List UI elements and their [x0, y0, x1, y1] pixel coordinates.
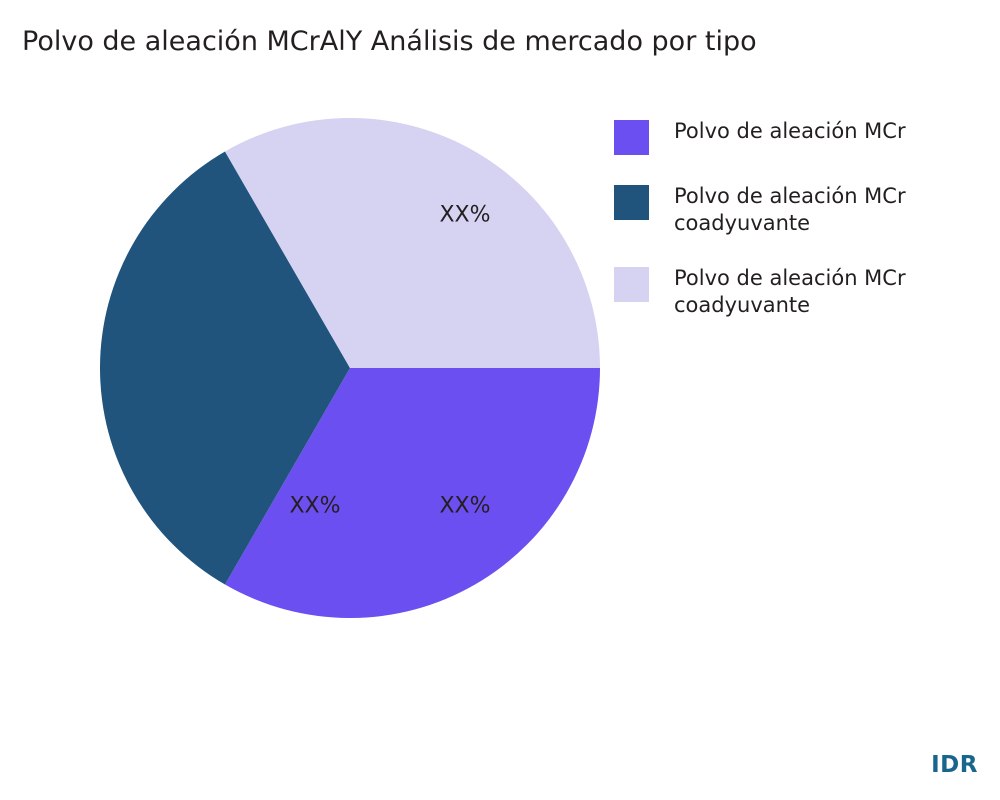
pie-chart: XX% XX% XX%	[100, 118, 600, 618]
legend-item-label: Polvo de aleación MCr	[674, 118, 906, 145]
watermark-logo: IDR	[931, 752, 978, 778]
pie-svg	[100, 118, 600, 618]
slice-label-1: XX%	[439, 494, 490, 519]
legend-item-label: Polvo de aleación MCr coadyuvante	[674, 265, 906, 319]
legend-item[interactable]: Polvo de aleación MCr coadyuvante	[614, 265, 1000, 319]
legend-item[interactable]: Polvo de aleación MCr	[614, 118, 1000, 155]
legend-item[interactable]: Polvo de aleación MCr coadyuvante	[614, 183, 1000, 237]
legend-item-label: Polvo de aleación MCr coadyuvante	[674, 183, 906, 237]
page-title: Polvo de aleación MCrAlY Análisis de mer…	[22, 26, 757, 57]
legend: Polvo de aleación MCr Polvo de aleación …	[614, 118, 1000, 347]
slice-label-0: XX%	[289, 494, 340, 519]
legend-swatch-icon	[614, 120, 649, 155]
legend-swatch-icon	[614, 267, 649, 302]
legend-swatch-icon	[614, 185, 649, 220]
slice-label-2: XX%	[439, 203, 490, 228]
